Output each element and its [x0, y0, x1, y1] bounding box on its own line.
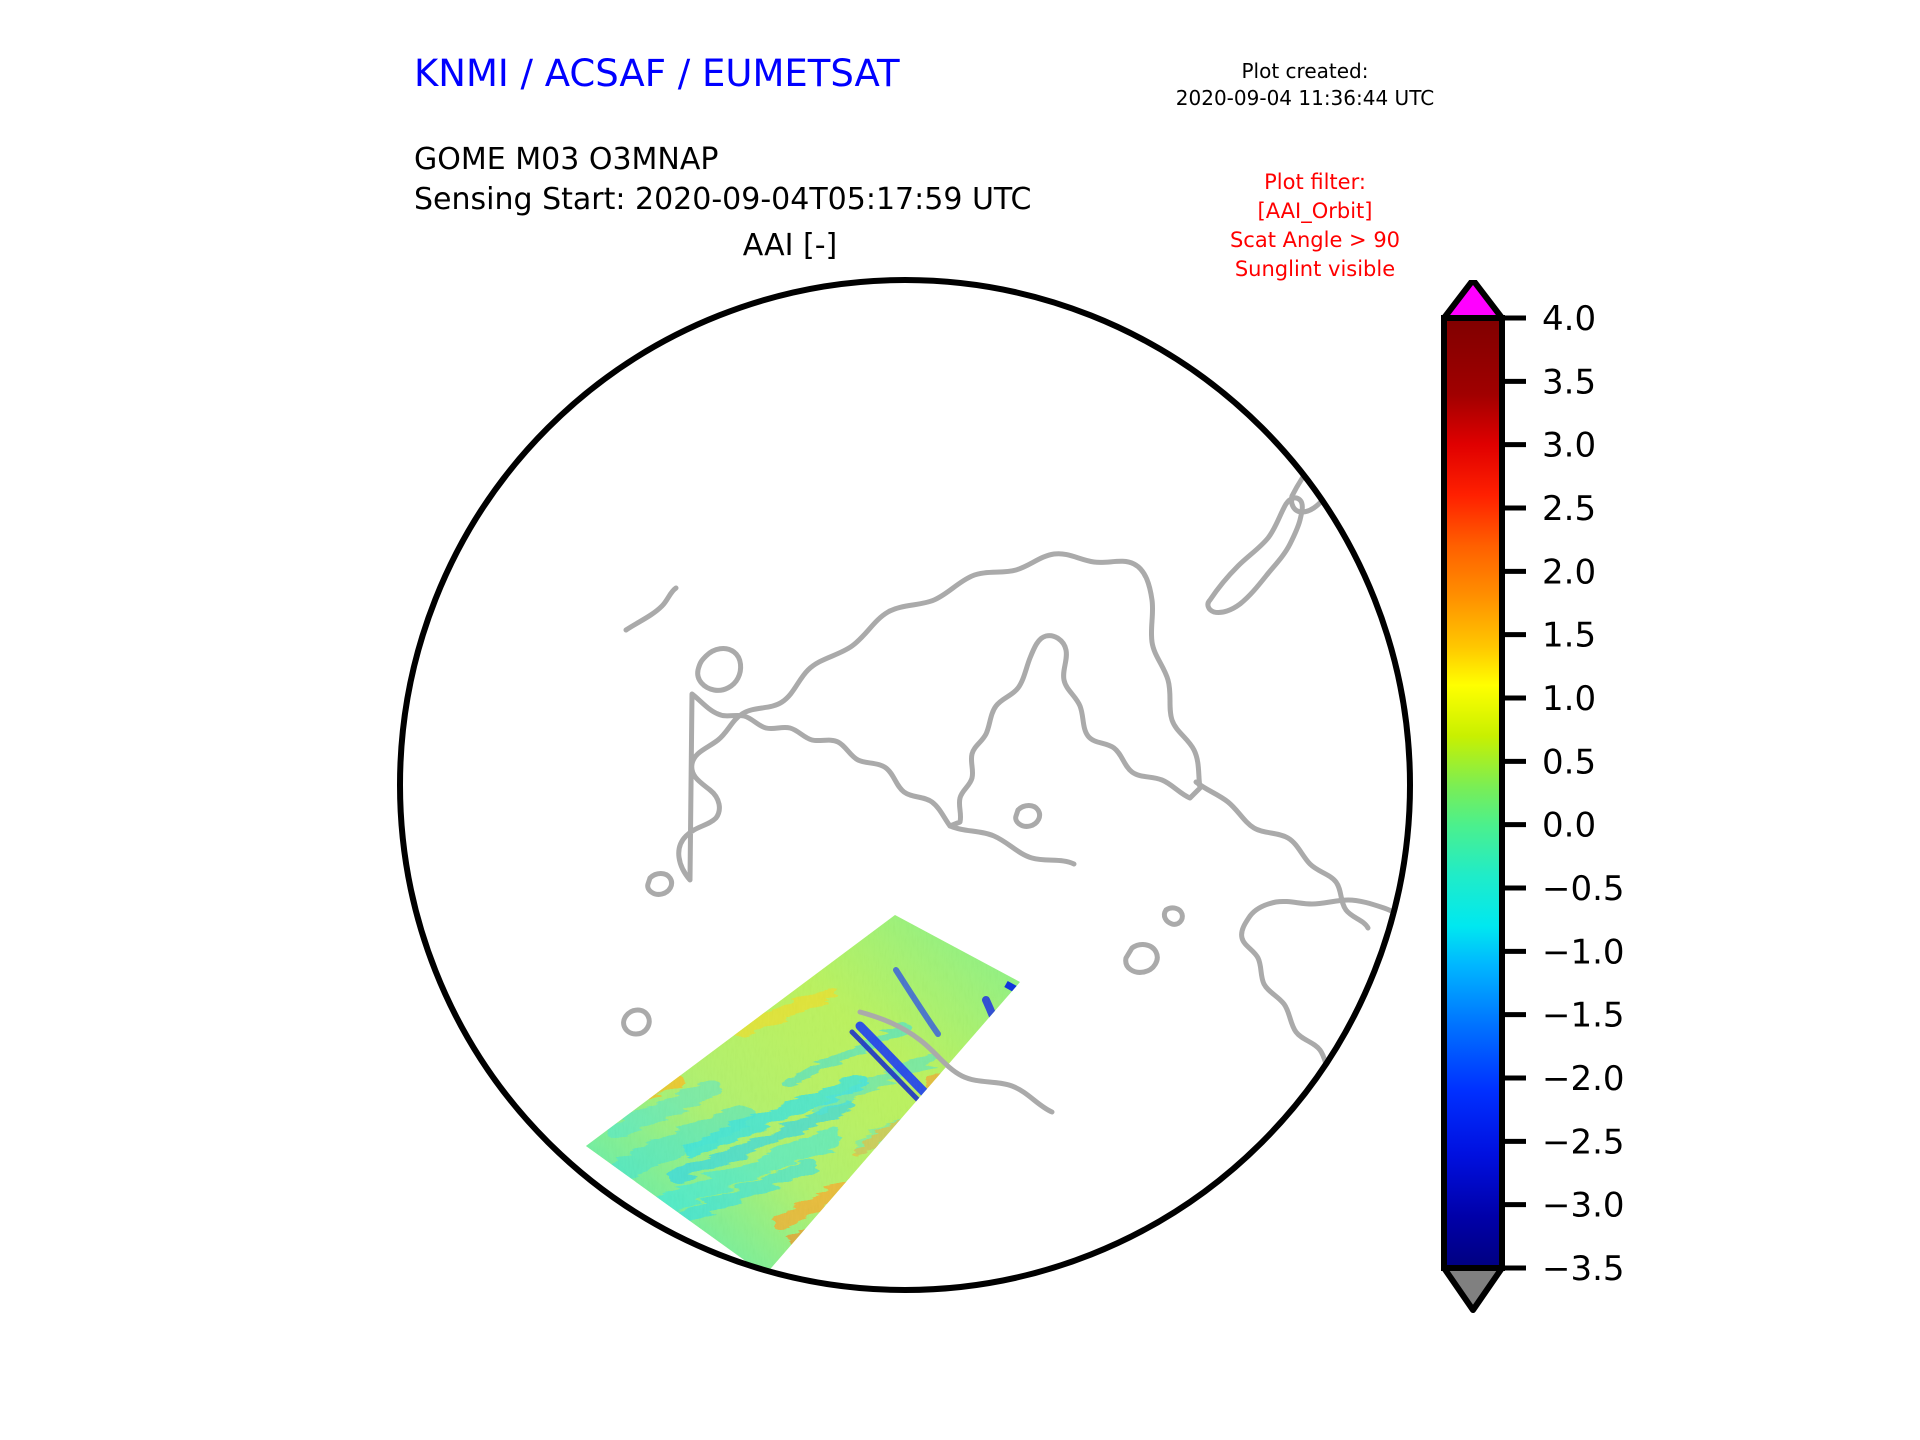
colorbar-tick-label: −2.0	[1542, 1059, 1625, 1099]
colorbar-tick-label: 0.0	[1542, 806, 1596, 846]
colorbar-gradient	[1444, 318, 1502, 1268]
south-america-west-island	[1402, 1239, 1420, 1262]
colorbar[interactable]: 4.03.53.02.52.01.51.00.50.0−0.5−1.0−1.5−…	[1430, 280, 1690, 1340]
colorbar-over-arrow	[1444, 280, 1502, 318]
map-panel	[390, 270, 1420, 1300]
colorbar-tick-label: −3.5	[1542, 1249, 1625, 1289]
polar-map	[390, 270, 1420, 1300]
colorbar-tick-label: 1.0	[1542, 679, 1596, 719]
plot-filter-name: [AAI_Orbit]	[1180, 197, 1450, 226]
organisation-title: KNMI / ACSAF / EUMETSAT	[414, 52, 900, 95]
plot-filter-block: Plot filter: [AAI_Orbit] Scat Angle > 90…	[1180, 168, 1450, 284]
colorbar-under-arrow	[1444, 1268, 1502, 1310]
colorbar-tick-label: 2.0	[1542, 552, 1596, 592]
plot-created-timestamp: 2020-09-04 11:36:44 UTC	[1160, 85, 1450, 112]
plot-filter-label: Plot filter:	[1180, 168, 1450, 197]
colorbar-tick-label: −0.5	[1542, 869, 1625, 909]
south-america-tierra-del-fuego	[1401, 1166, 1420, 1192]
colorbar-tick-label: 4.0	[1542, 299, 1596, 339]
colorbar-tick-label: 3.0	[1542, 426, 1596, 466]
colorbar-tick-label: 1.5	[1542, 616, 1596, 656]
product-info-block: GOME M03 O3MNAP Sensing Start: 2020-09-0…	[414, 140, 1031, 219]
colorbar-panel[interactable]: 4.03.53.02.52.01.51.00.50.0−0.5−1.0−1.5−…	[1430, 280, 1690, 1340]
colorbar-tick-label: −3.0	[1542, 1186, 1625, 1226]
sensing-start: Sensing Start: 2020-09-04T05:17:59 UTC	[414, 180, 1031, 220]
plot-canvas: KNMI / ACSAF / EUMETSAT Plot created: 20…	[0, 0, 1920, 1440]
colorbar-tick-label: 3.5	[1542, 362, 1596, 402]
colorbar-tick-label: 2.5	[1542, 489, 1596, 529]
plot-filter-scat-angle: Scat Angle > 90	[1180, 226, 1450, 255]
map-disc	[400, 280, 1410, 1290]
page-title: AAI [-]	[640, 228, 940, 263]
colorbar-tick-label: −1.5	[1542, 996, 1625, 1036]
plot-created-block: Plot created: 2020-09-04 11:36:44 UTC	[1160, 58, 1450, 112]
product-name: GOME M03 O3MNAP	[414, 140, 1031, 180]
colorbar-tick-label: −2.5	[1542, 1122, 1625, 1162]
colorbar-ticks: 4.03.53.02.52.01.51.00.50.0−0.5−1.0−1.5−…	[1502, 299, 1625, 1289]
colorbar-tick-label: 0.5	[1542, 742, 1596, 782]
plot-created-label: Plot created:	[1160, 58, 1450, 85]
colorbar-tick-label: −1.0	[1542, 932, 1625, 972]
